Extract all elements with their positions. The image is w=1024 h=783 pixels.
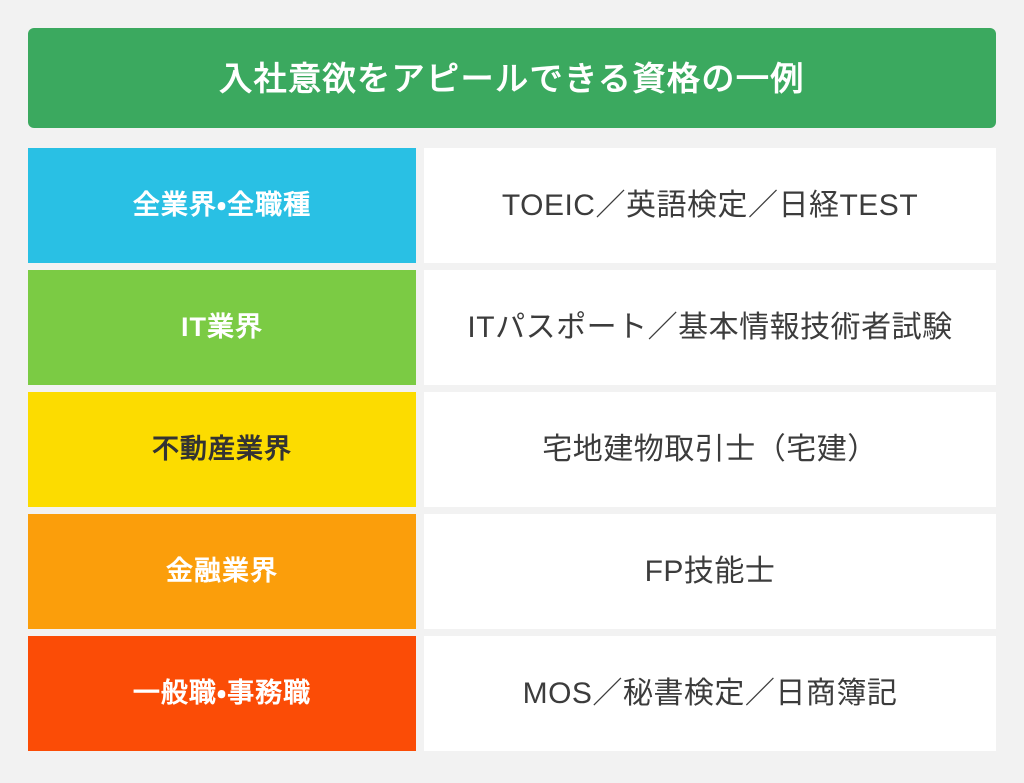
qualification-label: 宅地建物取引士（宅建） <box>542 433 878 466</box>
qualification-cell-real-estate-industry: 宅地建物取引士（宅建） <box>424 392 996 507</box>
qualification-cell-it-industry: ITパスポート／基本情報技術者試験 <box>424 270 996 385</box>
category-label: 不動産業界 <box>152 435 292 465</box>
category-cell-real-estate-industry: 不動産業界 <box>28 392 416 507</box>
qualification-label: FP技能士 <box>645 555 776 588</box>
qualification-table: 全業界・全職種 TOEIC／英語検定／日経TEST IT業界 ITパスポート／基… <box>28 148 996 751</box>
category-cell-it-industry: IT業界 <box>28 270 416 385</box>
page-title: 入社意欲をアピールできる資格の一例 <box>219 62 805 95</box>
table-row: 金融業界 FP技能士 <box>28 514 996 629</box>
qualification-cell-general-clerical: MOS／秘書検定／日商簿記 <box>424 636 996 751</box>
qualification-cell-all-industries: TOEIC／英語検定／日経TEST <box>424 148 996 263</box>
page-title-banner: 入社意欲をアピールできる資格の一例 <box>28 28 996 128</box>
table-row: 全業界・全職種 TOEIC／英語検定／日経TEST <box>28 148 996 263</box>
category-cell-general-clerical: 一般職・事務職 <box>28 636 416 751</box>
category-cell-all-industries: 全業界・全職種 <box>28 148 416 263</box>
table-row: 不動産業界 宅地建物取引士（宅建） <box>28 392 996 507</box>
qualification-cell-finance-industry: FP技能士 <box>424 514 996 629</box>
table-row: 一般職・事務職 MOS／秘書検定／日商簿記 <box>28 636 996 751</box>
category-label: 金融業界 <box>166 557 278 587</box>
category-label: IT業界 <box>181 313 263 343</box>
qualification-label: MOS／秘書検定／日商簿記 <box>523 677 898 710</box>
table-row: IT業界 ITパスポート／基本情報技術者試験 <box>28 270 996 385</box>
qualification-label: ITパスポート／基本情報技術者試験 <box>467 311 952 344</box>
category-cell-finance-industry: 金融業界 <box>28 514 416 629</box>
category-label: 一般職・事務職 <box>133 679 311 709</box>
qualification-label: TOEIC／英語検定／日経TEST <box>502 189 918 222</box>
category-label: 全業界・全職種 <box>133 191 311 221</box>
infographic-table-page: 入社意欲をアピールできる資格の一例 全業界・全職種 TOEIC／英語検定／日経T… <box>0 0 1024 783</box>
